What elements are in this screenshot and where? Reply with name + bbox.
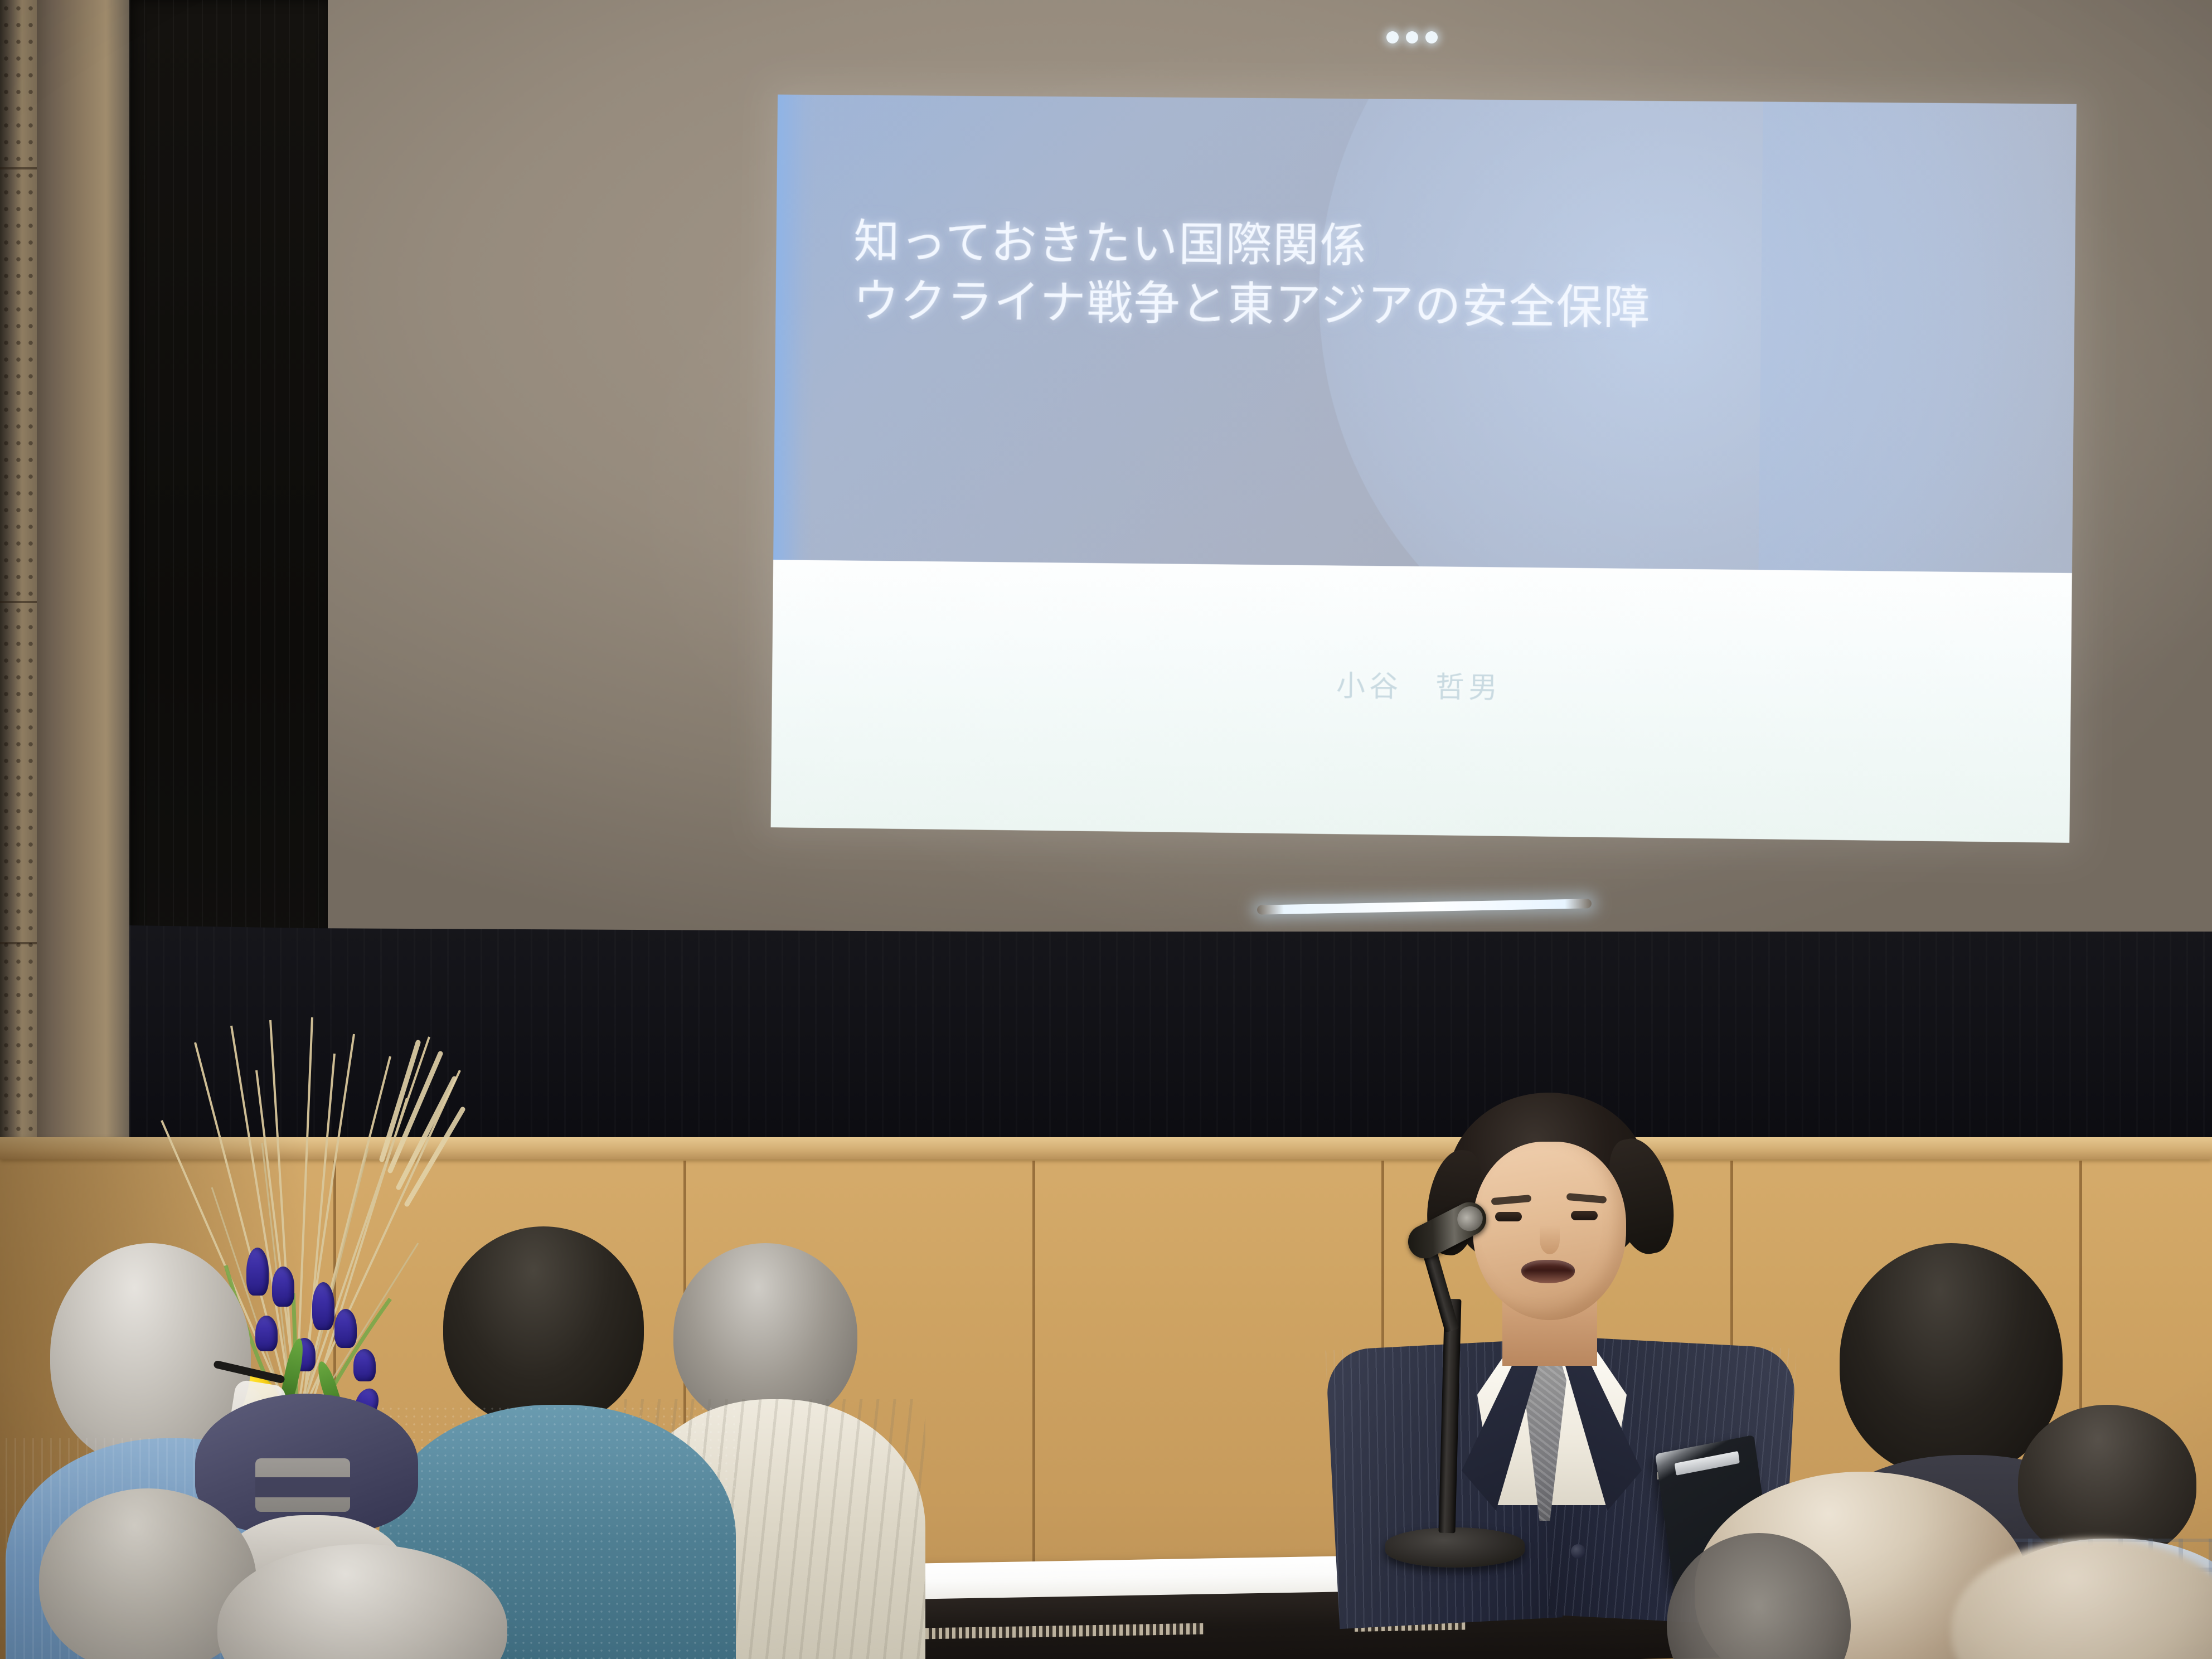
left-wood-pillar [0,0,37,1165]
slide-presenter-name: 小谷 哲男 [772,656,2071,712]
audience-head [443,1226,644,1427]
eye-right [1571,1211,1598,1220]
list-item [217,1544,530,1659]
microphone-base [1385,1527,1525,1568]
audience-head [217,1544,507,1659]
indicator-light-2 [1406,31,1418,43]
gentian-flower [353,1349,376,1381]
slide-title-line-1: 知っておきたい国際関係 [853,214,1367,272]
indicator-light-1 [1386,31,1399,43]
projected-slide: 知っておきたい国際関係 ウクライナ戦争と東アジアの安全保障 小谷 哲男 [771,95,2077,843]
eye-left [1495,1212,1522,1221]
table-vent-grille [892,1623,1204,1640]
audience-head [1951,1539,2212,1659]
jacket-button [1571,1544,1585,1559]
slide-left-edge-glow [773,95,816,560]
ceiling-indicator-lights [1386,31,1438,43]
presenter-nose [1540,1225,1560,1254]
list-item [1951,1539,2212,1659]
slide-title: 知っておきたい国際関係 ウクライナ戦争と東アジアの安全保障 [853,211,2023,341]
slide-title-band: 知っておきたい国際関係 ウクライナ戦争と東アジアの安全保障 [773,95,2077,574]
indicator-light-3 [1425,31,1438,43]
slide-title-line-2: ウクライナ戦争と東アジアの安全保障 [853,271,2022,342]
slide-footer-band: 小谷 哲男 [771,560,2072,843]
presenter-mouth [1521,1260,1575,1283]
gentian-flower [334,1309,357,1348]
gentian-flower [312,1282,334,1330]
lecture-hall-scene: 知っておきたい国際関係 ウクライナ戦争と東アジアの安全保障 小谷 哲男 [0,0,2212,1659]
